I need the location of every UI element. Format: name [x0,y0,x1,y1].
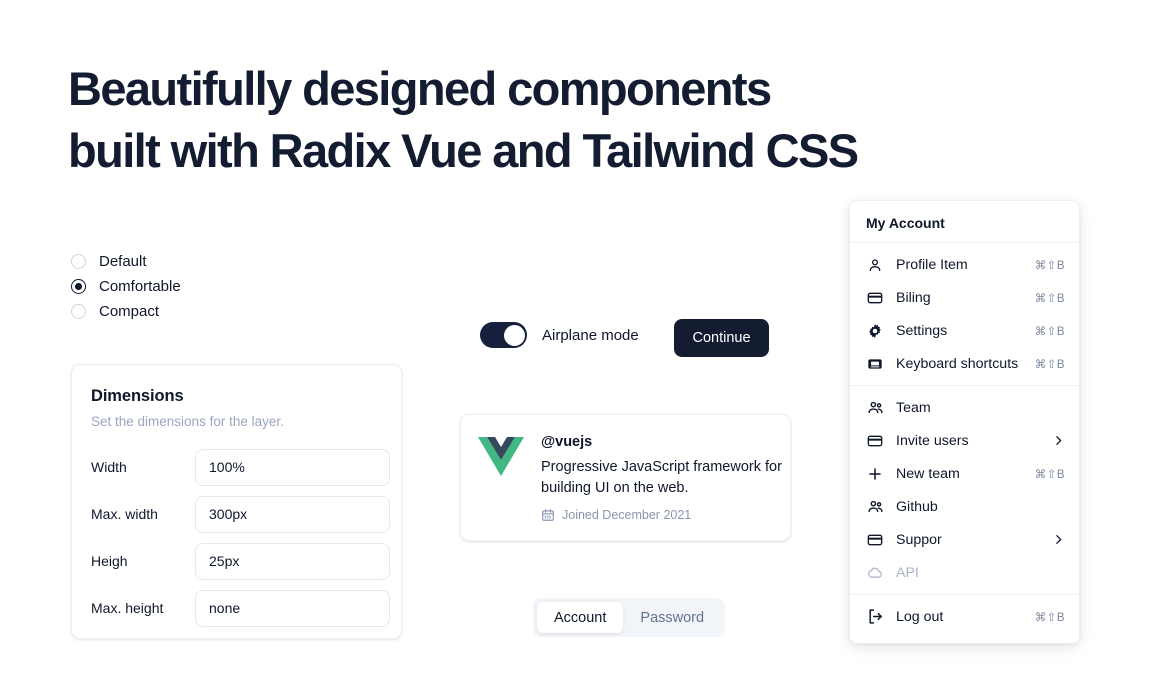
menu-item-profile[interactable]: Profile Item ⌘⇧B [850,248,1079,281]
radio-option-comfortable[interactable]: Comfortable [71,274,181,299]
hover-card-joined-text: Joined December 2021 [562,508,691,522]
menu-item-log-out-shortcut: ⌘⇧B [1035,610,1065,624]
hover-card: @vuejs Progressive JavaScript framework … [460,414,791,541]
credit-card-icon [866,289,884,307]
user-icon [866,256,884,274]
input-width[interactable] [195,449,390,486]
dimensions-row-max-height: Max. height [91,587,382,629]
menu-item-invite-users-label: Invite users [896,433,1052,449]
menu-item-invite-users[interactable]: Invite users [850,424,1079,457]
menu-item-new-team-shortcut: ⌘⇧B [1035,467,1065,481]
plus-icon [866,465,884,483]
menu-header: My Account [850,206,1079,242]
page-root: Beautifully designed components built wi… [0,0,1152,700]
menu-group-team: Team Invite users New team ⌘⇧B [850,386,1079,594]
dimensions-title: Dimensions [91,387,382,406]
radio-option-compact[interactable]: Compact [71,299,181,324]
label-height: Heigh [91,553,195,569]
menu-item-github[interactable]: Github [850,490,1079,523]
menu-item-log-out-label: Log out [896,609,1035,625]
label-max-width: Max. width [91,506,195,522]
menu-item-log-out[interactable]: Log out ⌘⇧B [850,600,1079,633]
menu-item-team-label: Team [896,400,1065,416]
dimensions-row-max-width: Max. width [91,493,382,535]
account-dropdown-menu: My Account Profile Item ⌘⇧B Biling ⌘⇧B [849,200,1080,644]
chevron-right-icon [1052,533,1065,546]
keyboard-icon [866,355,884,373]
radio-label-compact: Compact [99,303,159,320]
airplane-mode-label: Airplane mode [542,327,639,344]
menu-item-support[interactable]: Suppor [850,523,1079,556]
radio-indicator-compact[interactable] [71,304,86,319]
hover-card-handle: @vuejs [541,434,783,450]
menu-item-profile-label: Profile Item [896,257,1035,273]
credit-card-icon [866,531,884,549]
menu-item-github-label: Github [896,499,1065,515]
menu-item-new-team-label: New team [896,466,1035,482]
dimensions-subtitle: Set the dimensions for the layer. [91,414,382,429]
users-icon [866,498,884,516]
input-max-height[interactable] [195,590,390,627]
dimensions-row-width: Width [91,446,382,488]
users-icon [866,399,884,417]
label-max-height: Max. height [91,600,195,616]
calendar-icon [541,508,555,522]
page-title-line-2: built with Radix Vue and Tailwind CSS [68,120,1028,182]
dimensions-fields: Width Max. width Heigh Max. height [91,446,382,629]
density-radio-group: Default Comfortable Compact [71,249,181,324]
menu-item-support-label: Suppor [896,532,1052,548]
logout-icon [866,608,884,626]
radio-indicator-default[interactable] [71,254,86,269]
menu-item-billing-label: Biling [896,290,1035,306]
menu-item-keyboard-shortcuts-shortcut: ⌘⇧B [1035,357,1065,371]
airplane-mode-switch[interactable] [480,322,527,348]
gear-icon [866,322,884,340]
switch-knob [504,325,525,346]
cloud-icon [866,564,884,582]
menu-item-keyboard-shortcuts[interactable]: Keyboard shortcuts ⌘⇧B [850,347,1079,380]
menu-item-team[interactable]: Team [850,391,1079,424]
input-height[interactable] [195,543,390,580]
page-title: Beautifully designed components built wi… [68,58,1028,182]
label-width: Width [91,459,195,475]
tabs-list: Account Password [533,598,725,637]
radio-label-default: Default [99,253,147,270]
tab-account[interactable]: Account [537,602,623,633]
menu-item-billing[interactable]: Biling ⌘⇧B [850,281,1079,314]
menu-item-new-team[interactable]: New team ⌘⇧B [850,457,1079,490]
tab-password[interactable]: Password [623,602,721,633]
vue-logo-icon [478,437,524,477]
airplane-mode-switch-group: Airplane mode [480,322,639,348]
menu-item-api: API [850,556,1079,589]
dimensions-row-height: Heigh [91,540,382,582]
menu-item-profile-shortcut: ⌘⇧B [1035,258,1065,272]
input-max-width[interactable] [195,496,390,533]
hover-card-joined: Joined December 2021 [541,508,783,522]
menu-item-settings-shortcut: ⌘⇧B [1035,324,1065,338]
radio-option-default[interactable]: Default [71,249,181,274]
menu-item-keyboard-shortcuts-label: Keyboard shortcuts [896,356,1035,372]
hover-card-body: @vuejs Progressive JavaScript framework … [541,434,783,521]
radio-indicator-comfortable[interactable] [71,279,86,294]
menu-item-billing-shortcut: ⌘⇧B [1035,291,1065,305]
page-title-line-1: Beautifully designed components [68,62,771,115]
credit-card-icon [866,432,884,450]
radio-label-comfortable: Comfortable [99,278,181,295]
menu-item-settings[interactable]: Settings ⌘⇧B [850,314,1079,347]
chevron-right-icon [1052,434,1065,447]
menu-group-account: Profile Item ⌘⇧B Biling ⌘⇧B Settings ⌘⇧B [850,243,1079,385]
menu-item-settings-label: Settings [896,323,1035,339]
menu-item-api-label: API [896,565,1065,581]
hover-card-description: Progressive JavaScript framework for bui… [541,457,783,499]
menu-group-session: Log out ⌘⇧B [850,595,1079,638]
dimensions-card: Dimensions Set the dimensions for the la… [71,364,402,639]
continue-button[interactable]: Continue [674,319,769,357]
